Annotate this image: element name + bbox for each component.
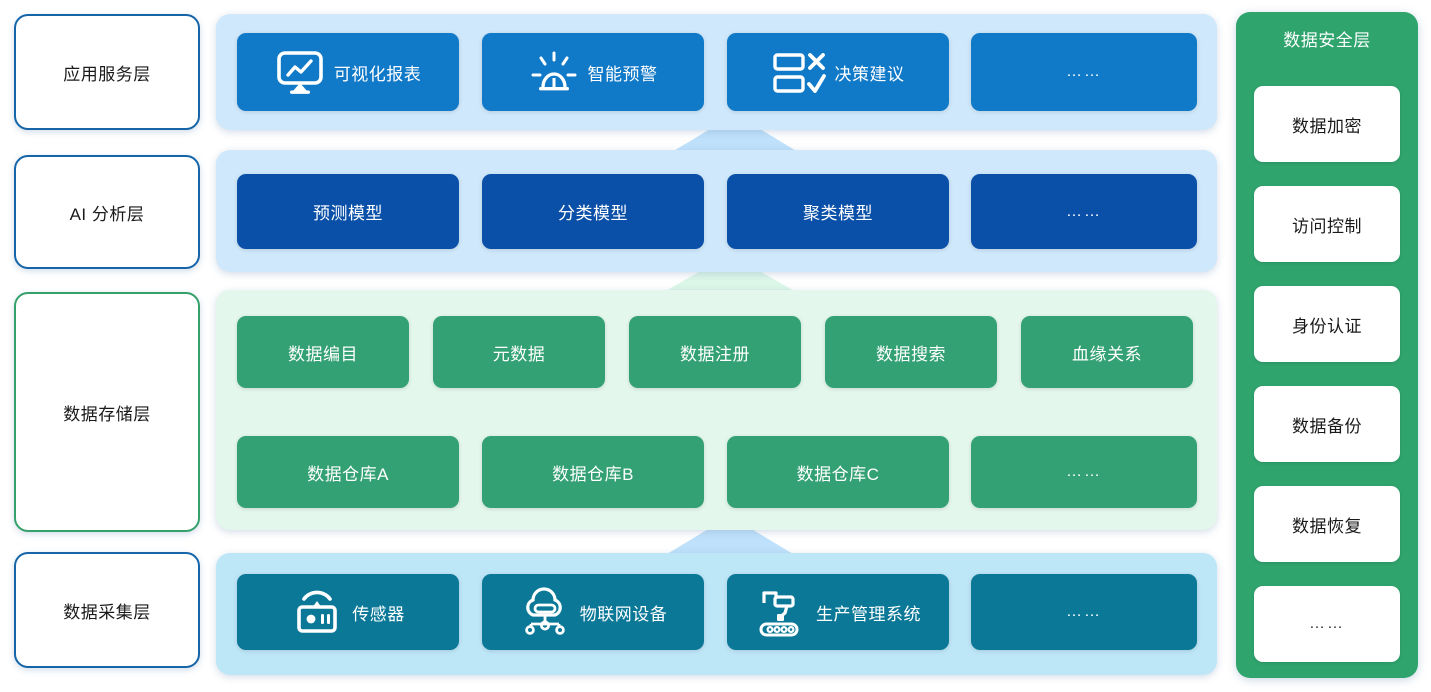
storage-item-label: 数据仓库A bbox=[307, 460, 389, 485]
app-item-decision-advice[interactable]: 决策建议 bbox=[727, 33, 949, 111]
storage-item-label: 数据编目 bbox=[288, 340, 358, 365]
storage-item-data-registration[interactable]: 数据注册 bbox=[629, 316, 801, 388]
app-item-label: 可视化报表 bbox=[334, 60, 422, 85]
ai-item-label: 分类模型 bbox=[558, 199, 628, 224]
ai-item-label: 聚类模型 bbox=[803, 199, 873, 224]
storage-item-lineage[interactable]: 血缘关系 bbox=[1021, 316, 1193, 388]
ai-item-label: …… bbox=[1066, 203, 1102, 221]
security-item-label: …… bbox=[1309, 615, 1345, 633]
layer-label-text: 应用服务层 bbox=[63, 60, 151, 85]
collect-item-label: 物联网设备 bbox=[580, 600, 668, 625]
app-item-label: 决策建议 bbox=[835, 60, 905, 85]
storage-item-warehouse-c[interactable]: 数据仓库C bbox=[727, 436, 949, 508]
storage-item-data-search[interactable]: 数据搜索 bbox=[825, 316, 997, 388]
security-item-label: 身份认证 bbox=[1292, 312, 1362, 337]
ai-item-classification-model[interactable]: 分类模型 bbox=[482, 174, 704, 249]
layer-label-collect: 数据采集层 bbox=[14, 552, 200, 668]
security-item-label: 访问控制 bbox=[1292, 212, 1362, 237]
robot-arm-icon bbox=[755, 586, 807, 638]
alarm-light-icon bbox=[529, 47, 579, 97]
security-item-access-control[interactable]: 访问控制 bbox=[1254, 186, 1400, 262]
storage-item-data-catalog[interactable]: 数据编目 bbox=[237, 316, 409, 388]
collect-item-label: …… bbox=[1066, 603, 1102, 621]
security-item-label: 数据恢复 bbox=[1292, 512, 1362, 537]
app-item-label: 智能预警 bbox=[588, 60, 658, 85]
cloud-network-icon bbox=[519, 587, 571, 637]
app-item-more[interactable]: …… bbox=[971, 33, 1197, 111]
layer-label-text: AI 分析层 bbox=[70, 200, 145, 225]
ai-item-clustering-model[interactable]: 聚类模型 bbox=[727, 174, 949, 249]
sensor-device-icon bbox=[291, 587, 343, 637]
security-layer-title: 数据安全层 bbox=[1236, 26, 1418, 51]
storage-item-label: 数据仓库B bbox=[552, 460, 634, 485]
layer-label-app: 应用服务层 bbox=[14, 14, 200, 130]
storage-item-label: 血缘关系 bbox=[1072, 340, 1142, 365]
security-item-recovery[interactable]: 数据恢复 bbox=[1254, 486, 1400, 562]
app-item-label: …… bbox=[1066, 63, 1102, 81]
storage-item-label: 数据仓库C bbox=[797, 460, 880, 485]
app-item-visual-report[interactable]: 可视化报表 bbox=[237, 33, 459, 111]
security-item-backup[interactable]: 数据备份 bbox=[1254, 386, 1400, 462]
collect-item-label: 传感器 bbox=[352, 600, 405, 625]
ai-item-label: 预测模型 bbox=[313, 199, 383, 224]
checklist-decision-icon bbox=[772, 47, 826, 97]
storage-item-more[interactable]: …… bbox=[971, 436, 1197, 508]
storage-item-label: 元数据 bbox=[493, 340, 546, 365]
security-item-more[interactable]: …… bbox=[1254, 586, 1400, 662]
architecture-diagram: 应用服务层 可视化报表 智能预警 bbox=[0, 0, 1431, 692]
storage-item-label: …… bbox=[1066, 463, 1102, 481]
storage-item-label: 数据注册 bbox=[680, 340, 750, 365]
storage-item-warehouse-a[interactable]: 数据仓库A bbox=[237, 436, 459, 508]
ai-item-prediction-model[interactable]: 预测模型 bbox=[237, 174, 459, 249]
layer-label-text: 数据存储层 bbox=[63, 400, 151, 425]
collect-item-more[interactable]: …… bbox=[971, 574, 1197, 650]
app-item-smart-alert[interactable]: 智能预警 bbox=[482, 33, 704, 111]
layer-label-ai: AI 分析层 bbox=[14, 155, 200, 269]
security-item-label: 数据备份 bbox=[1292, 412, 1362, 437]
ai-item-more[interactable]: …… bbox=[971, 174, 1197, 249]
security-item-encryption[interactable]: 数据加密 bbox=[1254, 86, 1400, 162]
layer-label-storage: 数据存储层 bbox=[14, 292, 200, 532]
storage-item-label: 数据搜索 bbox=[876, 340, 946, 365]
collect-item-sensor[interactable]: 传感器 bbox=[237, 574, 459, 650]
security-item-authentication[interactable]: 身份认证 bbox=[1254, 286, 1400, 362]
collect-item-label: 生产管理系统 bbox=[816, 600, 921, 625]
monitor-chart-icon bbox=[275, 48, 325, 96]
collect-item-production-system[interactable]: 生产管理系统 bbox=[727, 574, 949, 650]
security-layer-panel: 数据安全层 数据加密 访问控制 身份认证 数据备份 数据恢复 …… bbox=[1236, 12, 1418, 678]
collect-item-iot-device[interactable]: 物联网设备 bbox=[482, 574, 704, 650]
layer-label-text: 数据采集层 bbox=[63, 598, 151, 623]
security-item-label: 数据加密 bbox=[1292, 112, 1362, 137]
storage-item-warehouse-b[interactable]: 数据仓库B bbox=[482, 436, 704, 508]
storage-item-metadata[interactable]: 元数据 bbox=[433, 316, 605, 388]
